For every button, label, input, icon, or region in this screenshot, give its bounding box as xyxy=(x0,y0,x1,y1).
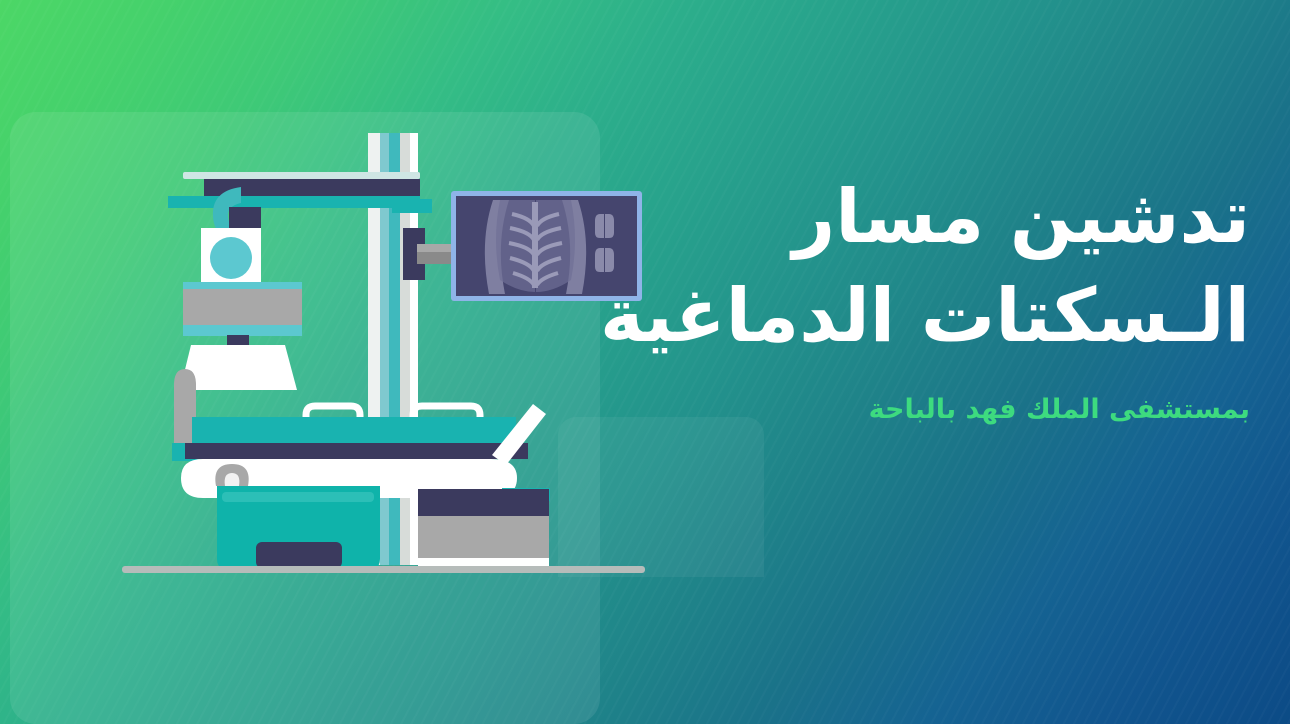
cabinet-body-gray xyxy=(418,516,549,563)
collimator-body xyxy=(183,289,302,329)
headline-line-1: تدشين مسار xyxy=(630,168,1250,267)
headline-block: تدشين مسار الـسكتات الدماغية بمستشفى الم… xyxy=(630,168,1250,427)
overhead-rail-group xyxy=(168,172,432,213)
cabinet-top-navy xyxy=(418,489,549,518)
rail-top-thin xyxy=(183,172,420,179)
headline-line-2: الـسكتات الدماغية xyxy=(630,267,1250,366)
beam-cone xyxy=(180,345,297,390)
tube-lens-circle xyxy=(210,237,252,279)
table-pivot-arch-inner xyxy=(225,473,240,486)
tube-head-assembly xyxy=(180,187,302,390)
tube-neck-top xyxy=(229,207,261,228)
collimator-bottom-plate xyxy=(183,325,302,336)
promo-banner: تدشين مسار الـسكتات الدماغية بمستشفى الم… xyxy=(0,0,1290,724)
subtitle-text: بمستشفى الملك فهد بالباحة xyxy=(630,392,1250,427)
floor-line xyxy=(122,566,645,573)
rail-teal-stub xyxy=(392,199,432,213)
table-base-group xyxy=(217,486,380,573)
table-base-foot xyxy=(256,542,342,568)
side-cabinet-group xyxy=(418,489,549,568)
xray-machine-illustration xyxy=(0,0,700,620)
table-pad-upper xyxy=(192,417,516,447)
collimator-stub xyxy=(227,335,249,345)
rail-teal-bar xyxy=(168,196,420,208)
xray-spine xyxy=(532,202,538,288)
table-base-highlight xyxy=(222,492,374,502)
table-frame-navy xyxy=(185,443,528,459)
